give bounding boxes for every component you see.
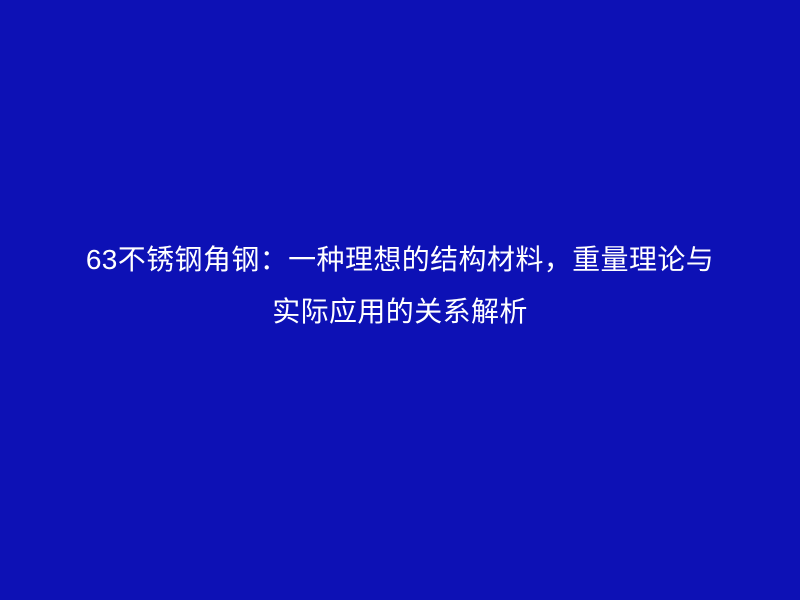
title-line-1: 63不锈钢角钢：一种理想的结构材料，重量理论与 — [50, 234, 750, 286]
title-line-2: 实际应用的关系解析 — [50, 286, 750, 338]
slide-background: 63不锈钢角钢：一种理想的结构材料，重量理论与 实际应用的关系解析 — [0, 0, 800, 600]
page-title: 63不锈钢角钢：一种理想的结构材料，重量理论与 实际应用的关系解析 — [50, 234, 750, 338]
